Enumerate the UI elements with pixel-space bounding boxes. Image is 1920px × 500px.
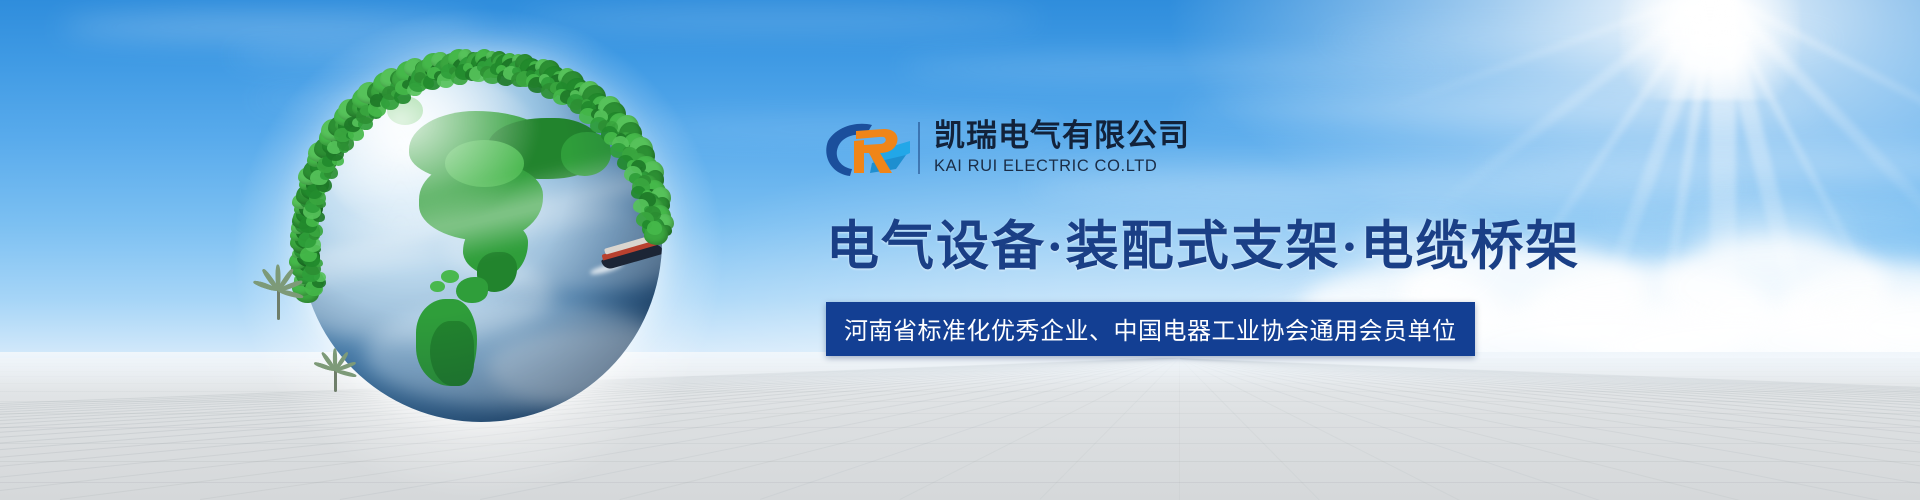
company-name-cn: 凯瑞电气有限公司 [934, 119, 1190, 152]
brand-text-block: 凯瑞电气有限公司 KAI RUI ELECTRIC CO.LTD [934, 119, 1190, 176]
sun-core-icon [1620, 0, 1800, 100]
cirrus-wisp [900, 58, 1460, 78]
cirrus-wisp [1320, 30, 1840, 48]
brand-divider [918, 122, 920, 174]
kairui-logo-mark[interactable] [826, 119, 912, 177]
headline-slogan: 电气设备·装配式支架·电缆桥架 [826, 204, 1586, 280]
banner-content: 凯瑞电气有限公司 KAI RUI ELECTRIC CO.LTD 电气设备·装配… [826, 112, 1586, 356]
hero-banner: 凯瑞电气有限公司 KAI RUI ELECTRIC CO.LTD 电气设备·装配… [0, 0, 1920, 500]
brand-lockup: 凯瑞电气有限公司 KAI RUI ELECTRIC CO.LTD [826, 112, 1586, 184]
palm-tree-icon [320, 358, 351, 392]
eco-globe [268, 38, 688, 458]
pavement-joint-horizontal [0, 461, 1920, 462]
cloud-puff [1690, 210, 1840, 270]
company-name-en: KAI RUI ELECTRIC CO.LTD [934, 156, 1190, 177]
rim-tree [647, 221, 662, 234]
credentials-badge: 河南省标准化优秀企业、中国电器工业协会通用会员单位 [826, 302, 1475, 356]
palm-tree-icon [258, 274, 299, 320]
pavement-joint-horizontal [0, 482, 1920, 483]
cirrus-wisp [520, 8, 1040, 30]
